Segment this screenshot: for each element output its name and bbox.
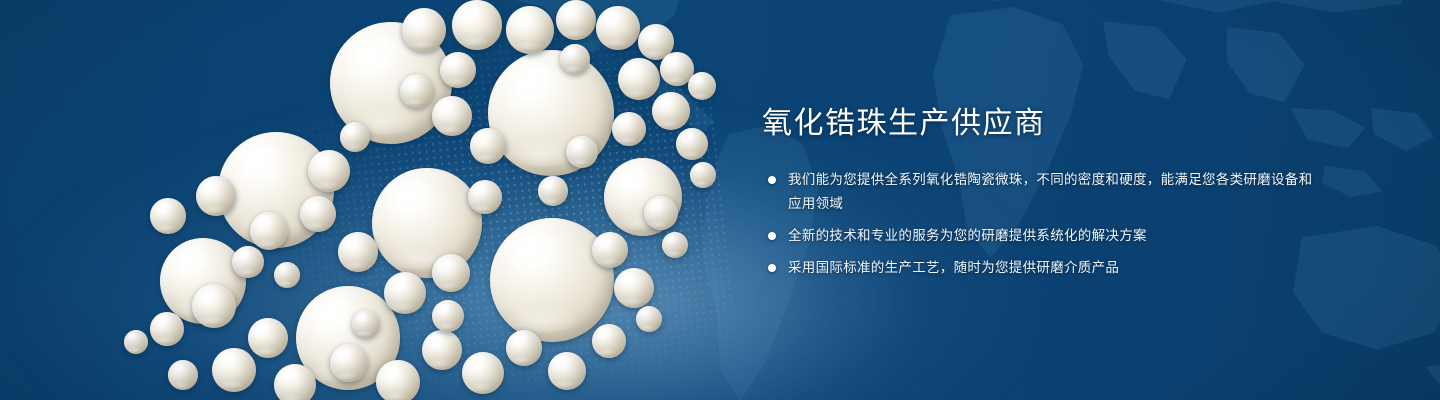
banner-copy: 氧化锆珠生产供应商 我们能为您提供全系列氧化锆陶瓷微珠，不同的密度和硬度，能满足… <box>762 104 1322 280</box>
bullet-dot-icon <box>768 264 776 272</box>
list-item: 全新的技术和专业的服务为您的研磨提供系统化的解决方案 <box>762 224 1322 248</box>
list-item-label: 全新的技术和专业的服务为您的研磨提供系统化的解决方案 <box>788 224 1322 248</box>
bullet-dot-icon <box>768 232 776 240</box>
feature-list: 我们能为您提供全系列氧化锆陶瓷微珠，不同的密度和硬度，能满足您各类研磨设备和应用… <box>762 168 1322 280</box>
list-item-label: 我们能为您提供全系列氧化锆陶瓷微珠，不同的密度和硬度，能满足您各类研磨设备和应用… <box>788 168 1322 216</box>
page-title: 氧化锆珠生产供应商 <box>762 104 1322 144</box>
bullet-dot-icon <box>768 176 776 184</box>
list-item: 采用国际标准的生产工艺，随时为您提供研磨介质产品 <box>762 256 1322 280</box>
list-item: 我们能为您提供全系列氧化锆陶瓷微珠，不同的密度和硬度，能满足您各类研磨设备和应用… <box>762 168 1322 216</box>
hero-banner: 氧化锆珠生产供应商 我们能为您提供全系列氧化锆陶瓷微珠，不同的密度和硬度，能满足… <box>0 0 1440 400</box>
list-item-label: 采用国际标准的生产工艺，随时为您提供研磨介质产品 <box>788 256 1322 280</box>
